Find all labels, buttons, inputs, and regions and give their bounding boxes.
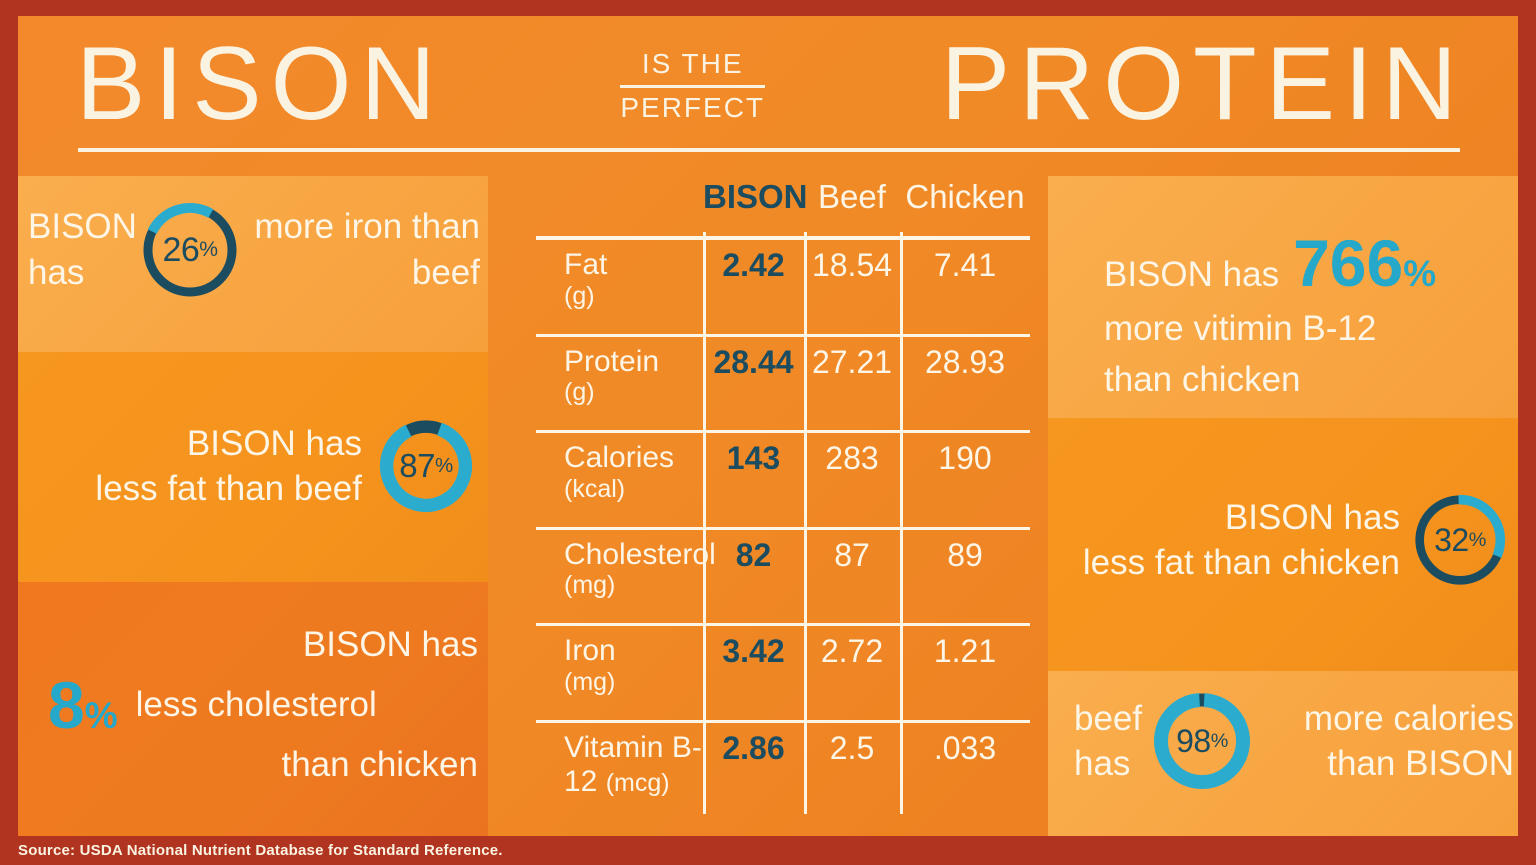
title-word-bison: BISON [76, 32, 445, 136]
table-cell-chicken: .033 [900, 723, 1030, 820]
panel-iron-before-line1: BISON [28, 204, 140, 250]
table-cell-chicken: 7.41 [900, 240, 1030, 337]
table-row: Calories (kcal) 143 283 190 [536, 433, 1030, 530]
table-cell-nutrient: Iron (mg) [536, 626, 703, 723]
title-word-protein: PROTEIN [941, 32, 1466, 136]
panel-fat-vs-chicken-text: BISON has less fat than chicken [1083, 495, 1412, 586]
table-cell-chicken: 1.21 [900, 626, 1030, 723]
infographic-canvas: BISON IS THE PERFECT PROTEIN BISON has [18, 16, 1518, 836]
table-column-divider-2 [804, 232, 807, 814]
nutrition-table-wrap: BISON Beef Chicken Fat (g) 2.42 18.54 [518, 176, 1048, 836]
table-cell-bison: 82 [703, 530, 804, 627]
panel-vitamin-b12-line1-row: BISON has 766% [1104, 232, 1504, 298]
panel-vitamin-b12-line1-pre: BISON has [1104, 252, 1279, 298]
panel-fat-vs-chicken-line2: less fat than chicken [1083, 540, 1400, 586]
panel-calories-after: more calories than BISON [1252, 696, 1514, 787]
table-nutrient-unit: (g) [564, 282, 697, 310]
panel-fat-vs-beef: BISON has less fat than beef 87% [18, 352, 488, 582]
panel-fat-vs-beef-text: BISON has less fat than beef [95, 421, 378, 512]
panel-fat-vs-beef-line2: less fat than beef [95, 466, 362, 512]
table-nutrient-unit: (g) [564, 378, 697, 406]
table-cell-beef: 283 [804, 433, 900, 530]
donut-fat-chicken-label: 32% [1412, 492, 1508, 588]
title-frac-rule [620, 85, 765, 88]
panel-cholesterol: BISON has 8% less cholesterol than chick… [18, 582, 488, 836]
panel-iron-after: more iron than beef [240, 200, 480, 295]
donut-fat-beef-percent-symbol: % [435, 454, 453, 478]
donut-iron-percent-symbol: % [199, 238, 217, 262]
panel-calories-after-line2: than BISON [1264, 741, 1514, 787]
title-row: BISON IS THE PERFECT PROTEIN [76, 24, 1466, 144]
table-cell-bison: 28.44 [703, 337, 804, 434]
table-cell-beef: 27.21 [804, 337, 900, 434]
table-nutrient-label: Protein [564, 345, 659, 378]
title-frac-bottom: PERFECT [620, 91, 765, 125]
panel-vitamin-b12-line2: more vitimin B-12 [1104, 306, 1504, 352]
panel-calories-content: beef has 98% more calories [1074, 691, 1514, 791]
donut-iron-value: 26 [162, 231, 199, 270]
panel-vitamin-b12-line3: than chicken [1104, 357, 1504, 403]
donut-fat-beef-value: 87 [399, 447, 435, 485]
donut-fat-beef-label: 87% [378, 418, 474, 514]
table-row: Fat (g) 2.42 18.54 7.41 [536, 240, 1030, 337]
donut-fat-chicken-value: 32 [1434, 522, 1469, 559]
panel-iron: BISON has 26% more iron than [18, 176, 488, 352]
panel-cholesterol-line2-row: 8% less cholesterol [48, 674, 478, 737]
panel-cholesterol-content: BISON has 8% less cholesterol than chick… [48, 622, 478, 788]
panel-iron-after-line1: more iron than [254, 204, 480, 250]
panel-iron-content: BISON has 26% more iron than [28, 200, 480, 300]
table-header-bison: BISON [703, 180, 804, 228]
donut-iron-label: 26% [140, 200, 240, 300]
footer: Source: USDA National Nutrient Database … [0, 836, 1536, 865]
header-underline [78, 148, 1460, 152]
title-frac-top: IS THE [642, 47, 744, 81]
table-nutrient-label: Cholesterol [564, 538, 716, 571]
panel-vitamin-b12-bignum: 766% [1293, 232, 1436, 295]
panel-cholesterol-line3: than chicken [48, 742, 478, 788]
panel-fat-vs-beef-content: BISON has less fat than beef 87% [54, 418, 474, 514]
panel-cholesterol-line2: less cholesterol [136, 682, 377, 728]
panel-cholesterol-bignum: 8% [48, 674, 118, 737]
table-nutrient-label: Fat [564, 248, 607, 281]
table-cell-beef: 2.72 [804, 626, 900, 723]
panel-cholesterol-line1: BISON has [48, 622, 478, 668]
table-column-divider-3 [900, 232, 903, 814]
table-row: Vitamin B-12 (mcg) 2.86 2.5 .033 [536, 723, 1030, 820]
panel-fat-vs-chicken-content: BISON has less fat than chicken 32% [1068, 492, 1508, 588]
panel-iron-before: BISON has [28, 200, 140, 295]
table-row: Iron (mg) 3.42 2.72 1.21 [536, 626, 1030, 723]
panel-calories-after-line1: more calories [1264, 696, 1514, 742]
panel-iron-after-line2: beef [254, 250, 480, 296]
table-cell-beef: 2.5 [804, 723, 900, 820]
table-cell-chicken: 190 [900, 433, 1030, 530]
table-cell-bison: 2.42 [703, 240, 804, 337]
table-cell-nutrient: Vitamin B-12 (mcg) [536, 723, 703, 820]
table-cell-nutrient: Fat (g) [536, 240, 703, 337]
table-nutrient-unit: (mg) [564, 668, 697, 696]
donut-calories-value: 98 [1176, 723, 1211, 760]
header: BISON IS THE PERFECT PROTEIN [18, 16, 1518, 176]
donut-calories-percent-symbol: % [1211, 730, 1228, 753]
table-cell-chicken: 28.93 [900, 337, 1030, 434]
table-cell-bison: 143 [703, 433, 804, 530]
donut-iron-26: 26% [140, 200, 240, 300]
infographic-root: BISON IS THE PERFECT PROTEIN BISON has [0, 0, 1536, 865]
panel-cholesterol-percent-symbol: % [85, 695, 118, 736]
panel-fat-vs-chicken: BISON has less fat than chicken 32% [1048, 418, 1518, 671]
panel-vitamin-b12-content: BISON has 766% more vitimin B-12 than ch… [1104, 232, 1504, 403]
table-nutrient-unit: (mcg) [606, 769, 670, 797]
panel-calories-before-line1: beef [1074, 696, 1152, 742]
panel-cholesterol-value: 8 [48, 668, 85, 742]
table-cell-beef: 18.54 [804, 240, 900, 337]
table-cell-beef: 87 [804, 530, 900, 627]
panel-calories-before: beef has [1074, 696, 1152, 787]
panel-fat-vs-beef-line1: BISON has [95, 421, 362, 467]
panel-vitamin-b12-value: 766 [1293, 226, 1403, 300]
table-header-row: BISON Beef Chicken [536, 180, 1030, 228]
table-cell-chicken: 89 [900, 530, 1030, 627]
table-cell-bison: 2.86 [703, 723, 804, 820]
panel-iron-before-line2: has [28, 250, 140, 296]
table-row: Protein (g) 28.44 27.21 28.93 [536, 337, 1030, 434]
table-nutrient-unit: (kcal) [564, 475, 697, 503]
donut-fat-chicken-percent-symbol: % [1469, 529, 1486, 552]
donut-calories-98: 98% [1152, 691, 1252, 791]
donut-fat-chicken-32: 32% [1412, 492, 1508, 588]
panel-vitamin-b12-percent-symbol: % [1403, 253, 1436, 294]
panel-vitamin-b12: BISON has 766% more vitimin B-12 than ch… [1048, 176, 1518, 418]
table-row: Cholesterol (mg) 82 87 89 [536, 530, 1030, 627]
table-cell-nutrient: Cholesterol (mg) [536, 530, 703, 627]
panel-calories: beef has 98% more calories [1048, 671, 1518, 836]
donut-fat-beef-87: 87% [378, 418, 474, 514]
table-cell-nutrient: Protein (g) [536, 337, 703, 434]
table-nutrient-label: Calories [564, 441, 674, 474]
title-fraction: IS THE PERFECT [606, 47, 779, 124]
table-header-beef: Beef [804, 180, 900, 228]
table-cell-nutrient: Calories (kcal) [536, 433, 703, 530]
table-nutrient-label: Iron [564, 634, 616, 667]
nutrition-table: BISON Beef Chicken Fat (g) 2.42 18.54 [536, 176, 1030, 824]
table-cell-bison: 3.42 [703, 626, 804, 723]
donut-calories-label: 98% [1152, 691, 1252, 791]
panel-fat-vs-chicken-line1: BISON has [1083, 495, 1400, 541]
table-header-blank [536, 180, 703, 228]
table-nutrient-unit: (mg) [564, 571, 697, 599]
table-header-chicken: Chicken [900, 180, 1030, 228]
source-text: Source: USDA National Nutrient Database … [0, 842, 503, 859]
panel-calories-before-line2: has [1074, 741, 1152, 787]
table-body: Fat (g) 2.42 18.54 7.41 Protein (g) [536, 240, 1030, 820]
table-column-divider-1 [703, 232, 706, 814]
content-columns: BISON has 26% more iron than [18, 176, 1518, 836]
